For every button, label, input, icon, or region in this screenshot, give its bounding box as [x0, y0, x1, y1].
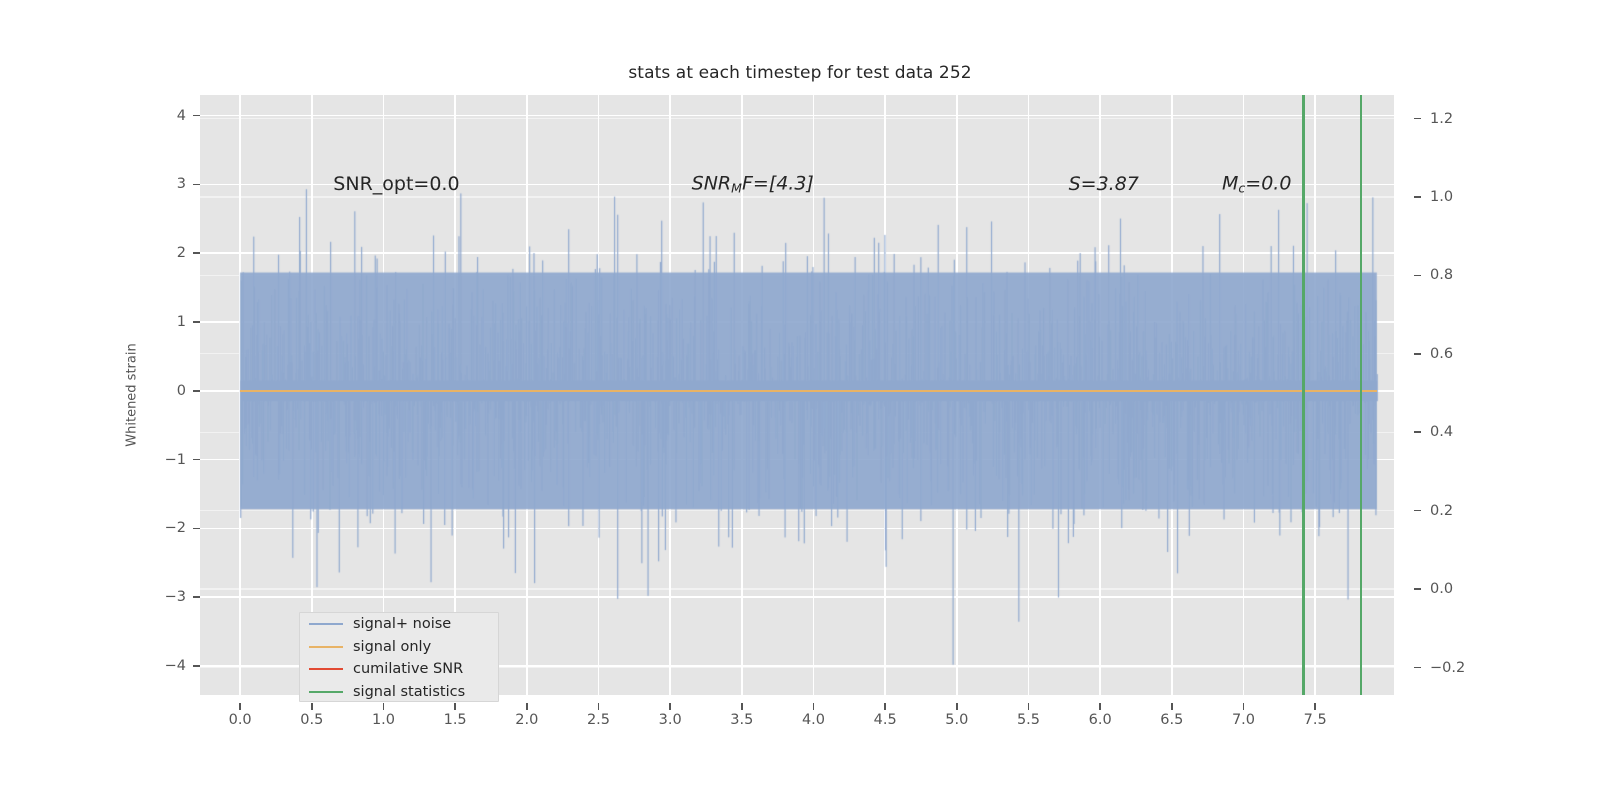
x-tick-mark	[669, 703, 671, 710]
x-tick-mark	[1171, 703, 1173, 710]
legend-item-label: signal only	[353, 639, 431, 655]
x-tick-mark	[598, 703, 600, 710]
y-axis-left-ticks: 43210−1−2−3−4	[150, 95, 186, 695]
x-tick-label: 0.0	[229, 712, 252, 728]
x-tick-mark	[239, 703, 241, 710]
y-tick-mark-left	[193, 459, 200, 461]
annotation-snr-mf: SNRMF=[4.3]	[692, 173, 814, 196]
plot-area: SNR_opt=0.0SNRMF=[4.3]S=3.87Mc=0.0	[200, 95, 1394, 695]
legend-item-1[interactable]: signal+ noise	[300, 613, 498, 636]
x-tick-mark	[956, 703, 958, 710]
x-tick-mark	[1028, 703, 1030, 710]
x-tick-label: 3.0	[659, 712, 682, 728]
x-tick-label: 7.5	[1304, 712, 1327, 728]
y-tick-label-right: 1.2	[1430, 111, 1453, 127]
y-tick-mark-right	[1414, 431, 1421, 433]
x-tick-label: 4.0	[802, 712, 825, 728]
x-tick-mark	[884, 703, 886, 710]
y-tick-label-left: −1	[165, 452, 186, 468]
y-tick-label-left: 1	[177, 314, 186, 330]
y-tick-label-right: 0.0	[1430, 581, 1453, 597]
y-tick-mark-left	[193, 321, 200, 323]
legend-swatch-icon	[309, 646, 343, 648]
y-tick-label-left: 2	[177, 245, 186, 261]
y-tick-mark-right	[1414, 510, 1421, 512]
y-tick-mark-right	[1414, 196, 1421, 198]
x-tick-label: 1.0	[372, 712, 395, 728]
y-tick-label-left: 3	[177, 176, 186, 192]
x-tick-label: 0.5	[300, 712, 323, 728]
legend-item-2[interactable]: signal only	[300, 636, 498, 659]
y-tick-label-left: 4	[177, 108, 186, 124]
legend-item-label: cumilative SNR	[353, 661, 463, 677]
x-tick-label: 5.5	[1017, 712, 1040, 728]
x-tick-mark	[1314, 703, 1316, 710]
legend-item-4[interactable]: signal statistics	[300, 681, 498, 704]
legend-box[interactable]: signal+ noisesignal onlycumilative SNRsi…	[299, 612, 499, 702]
legend-swatch-icon	[309, 623, 343, 625]
y-tick-mark-left	[193, 665, 200, 667]
x-tick-mark	[526, 703, 528, 710]
legend-swatch-icon	[309, 668, 343, 670]
x-tick-label: 6.0	[1089, 712, 1112, 728]
y-axis-label-left: Whitened strain	[125, 343, 140, 446]
y-tick-mark-right	[1414, 353, 1421, 355]
x-tick-mark	[813, 703, 815, 710]
annotation-mc-stat: Mc=0.0	[1222, 173, 1291, 196]
legend-item-label: signal statistics	[353, 684, 465, 700]
legend-item-3[interactable]: cumilative SNR	[300, 658, 498, 681]
x-tick-label: 2.5	[587, 712, 610, 728]
y-tick-mark-right	[1414, 588, 1421, 590]
y-tick-mark-left	[193, 390, 200, 392]
y-tick-label-right: 0.8	[1430, 267, 1453, 283]
y-tick-label-right: 0.6	[1430, 346, 1453, 362]
x-tick-mark	[1243, 703, 1245, 710]
x-tick-label: 5.0	[945, 712, 968, 728]
y-tick-mark-left	[193, 252, 200, 254]
y-tick-label-right: 1.0	[1430, 189, 1453, 205]
signal-statistic-vline-1	[1302, 95, 1305, 695]
legend-swatch-icon	[309, 691, 343, 693]
x-axis-ticks: 0.00.51.01.52.02.53.03.54.04.55.05.56.06…	[200, 703, 1394, 727]
x-tick-label: 4.5	[874, 712, 897, 728]
x-tick-mark	[1099, 703, 1101, 710]
chart-title: stats at each timestep for test data 252	[0, 63, 1600, 83]
y-tick-label-right: 0.4	[1430, 424, 1453, 440]
signal-statistic-vline-2	[1360, 95, 1363, 695]
series-signal-only	[240, 390, 1377, 392]
x-tick-label: 7.0	[1232, 712, 1255, 728]
annotation-s-stat: S=3.87	[1069, 173, 1139, 195]
y-tick-mark-right	[1414, 667, 1421, 669]
x-tick-label: 2.0	[515, 712, 538, 728]
legend-item-label: signal+ noise	[353, 616, 451, 632]
x-tick-mark	[383, 703, 385, 710]
x-tick-label: 6.5	[1160, 712, 1183, 728]
x-tick-mark	[741, 703, 743, 710]
y-tick-label-left: −3	[165, 589, 186, 605]
y-tick-label-left: −2	[165, 520, 186, 536]
y-tick-mark-left	[193, 528, 200, 530]
x-tick-mark	[454, 703, 456, 710]
y-tick-mark-left	[193, 184, 200, 186]
y-tick-mark-right	[1414, 118, 1421, 120]
x-tick-label: 3.5	[730, 712, 753, 728]
y-tick-label-left: 0	[177, 383, 186, 399]
y-tick-label-left: −4	[165, 658, 186, 674]
y-axis-right-ticks: 1.21.00.80.60.40.20.0−0.2	[1414, 95, 1474, 695]
figure-canvas: stats at each timestep for test data 252…	[0, 0, 1600, 800]
x-tick-mark	[311, 703, 313, 710]
y-tick-mark-left	[193, 115, 200, 117]
x-tick-label: 1.5	[444, 712, 467, 728]
y-tick-mark-left	[193, 596, 200, 598]
y-tick-mark-right	[1414, 275, 1421, 277]
y-tick-label-right: 0.2	[1430, 503, 1453, 519]
y-tick-label-right: −0.2	[1430, 660, 1465, 676]
annotation-snr-opt: SNR_opt=0.0	[333, 173, 459, 195]
